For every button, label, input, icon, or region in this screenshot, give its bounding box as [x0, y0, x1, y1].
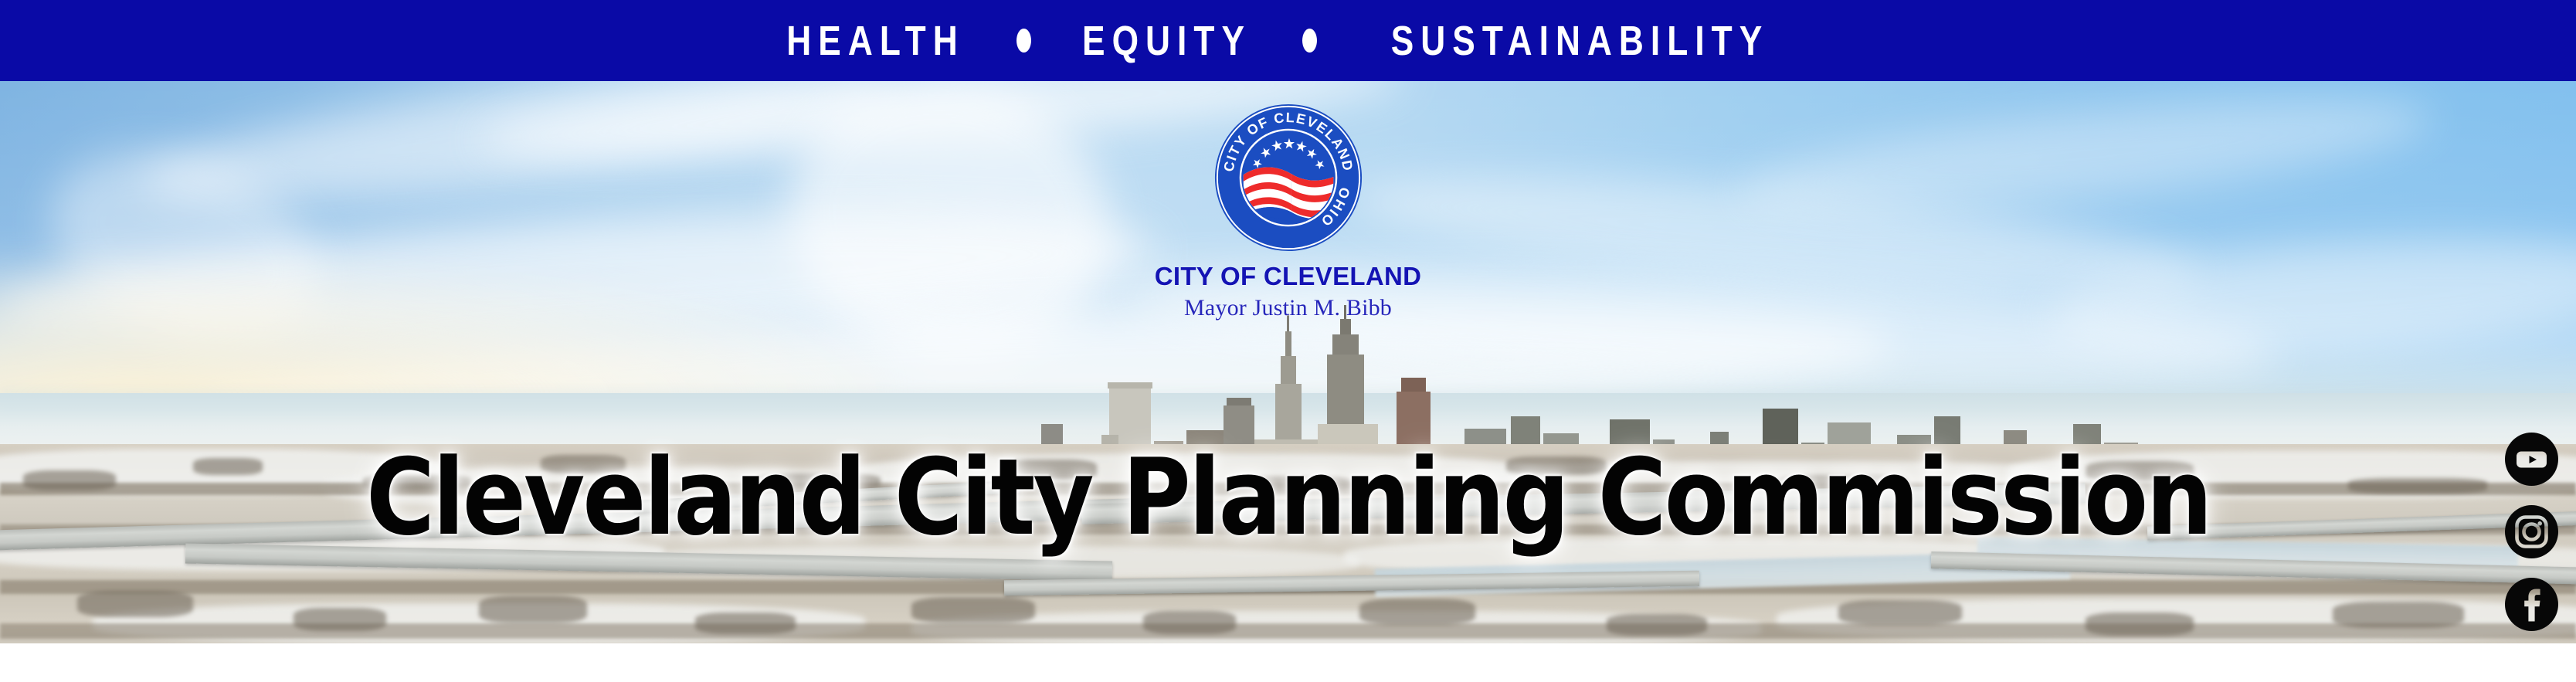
bullet-dot-icon — [1302, 29, 1317, 53]
youtube-icon[interactable] — [2505, 433, 2558, 486]
social-links-rail — [2505, 433, 2558, 631]
city-of-cleveland-seal: CITY OF CLEVELAND OHIO — [1213, 103, 1363, 253]
bullet-dot-icon — [1016, 29, 1031, 53]
brand-title: CITY OF CLEVELAND — [1155, 262, 1422, 291]
instagram-icon[interactable] — [2505, 505, 2558, 558]
foreground-neighborhoods — [0, 444, 2576, 643]
facebook-icon[interactable] — [2505, 578, 2558, 631]
brand-block: CITY OF CLEVELAND OHIO — [0, 81, 2576, 321]
tagline-bar: HEALTH EQUITY SUSTAINABILITY — [0, 0, 2576, 81]
tagline-word-health: HEALTH — [786, 20, 964, 62]
tagline-inner: HEALTH EQUITY SUSTAINABILITY — [767, 20, 1811, 62]
brand-subtitle: Mayor Justin M. Bibb — [1184, 295, 1392, 321]
tagline-word-sustainability: SUSTAINABILITY — [1391, 20, 1770, 62]
tagline-word-equity: EQUITY — [1082, 20, 1251, 62]
